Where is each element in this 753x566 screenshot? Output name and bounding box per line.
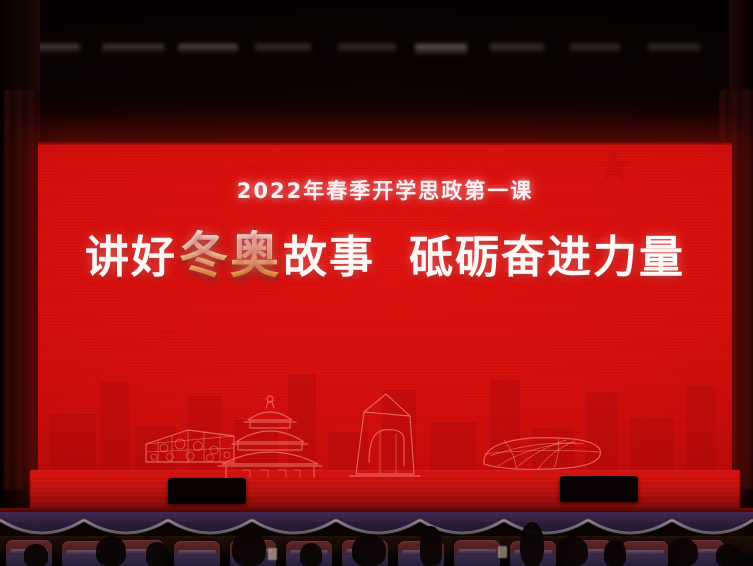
ceiling-light	[415, 44, 467, 55]
audience-area	[0, 514, 753, 566]
birds-nest-icon	[484, 438, 600, 470]
audience-person	[520, 522, 544, 566]
led-text-block: 2022年春季开学思政第一课 讲好冬奥故事砥砺奋进力量	[38, 175, 732, 287]
led-panel-seam	[38, 141, 732, 146]
audience-phone-screen	[268, 548, 277, 560]
stage-curtain-left	[4, 90, 38, 490]
ceiling-light	[490, 44, 544, 53]
ceiling	[0, 0, 753, 150]
beijing-skyline-artwork	[38, 358, 732, 478]
audience-person	[300, 543, 322, 566]
audience-phone-screen	[498, 546, 507, 558]
led-screen[interactable]: 2022年春季开学思政第一课 讲好冬奥故事砥砺奋进力量	[38, 141, 732, 478]
subtitle-line: 2022年春季开学思政第一课	[38, 175, 732, 205]
water-cube-icon	[146, 430, 234, 462]
stage-monitor-right	[560, 476, 638, 502]
ceiling-light	[648, 44, 700, 53]
audience-person	[556, 536, 588, 566]
ceiling-light	[178, 44, 238, 53]
ceiling-light	[255, 44, 311, 53]
audience-person	[352, 534, 386, 566]
ceiling-light	[570, 44, 620, 53]
ceiling-light	[338, 44, 396, 53]
audience-seat	[454, 540, 500, 566]
headline-part3: 砥砺奋进力量	[409, 232, 685, 283]
audience-person	[146, 542, 168, 566]
audience-person	[232, 531, 266, 566]
stage-monitor-left	[168, 478, 246, 504]
audience-person	[716, 544, 740, 566]
china-zun-monument-icon	[350, 394, 420, 476]
ceiling-lights	[0, 44, 753, 62]
audience-person	[668, 538, 698, 566]
headline-part2: 故事	[283, 232, 375, 283]
headline-part1: 讲好	[85, 232, 177, 283]
audience-person	[24, 544, 48, 566]
headline-highlight: 冬奥	[177, 226, 283, 284]
ceiling-light	[102, 44, 164, 53]
audience-person	[604, 540, 626, 566]
audience-person	[96, 536, 126, 566]
auditorium-scene: 2022年春季开学思政第一课 讲好冬奥故事砥砺奋进力量	[0, 0, 753, 566]
headline-line: 讲好冬奥故事砥砺奋进力量	[38, 216, 732, 287]
audience-seat	[174, 541, 220, 566]
audience-person	[420, 526, 442, 566]
audience-seat	[622, 541, 668, 566]
